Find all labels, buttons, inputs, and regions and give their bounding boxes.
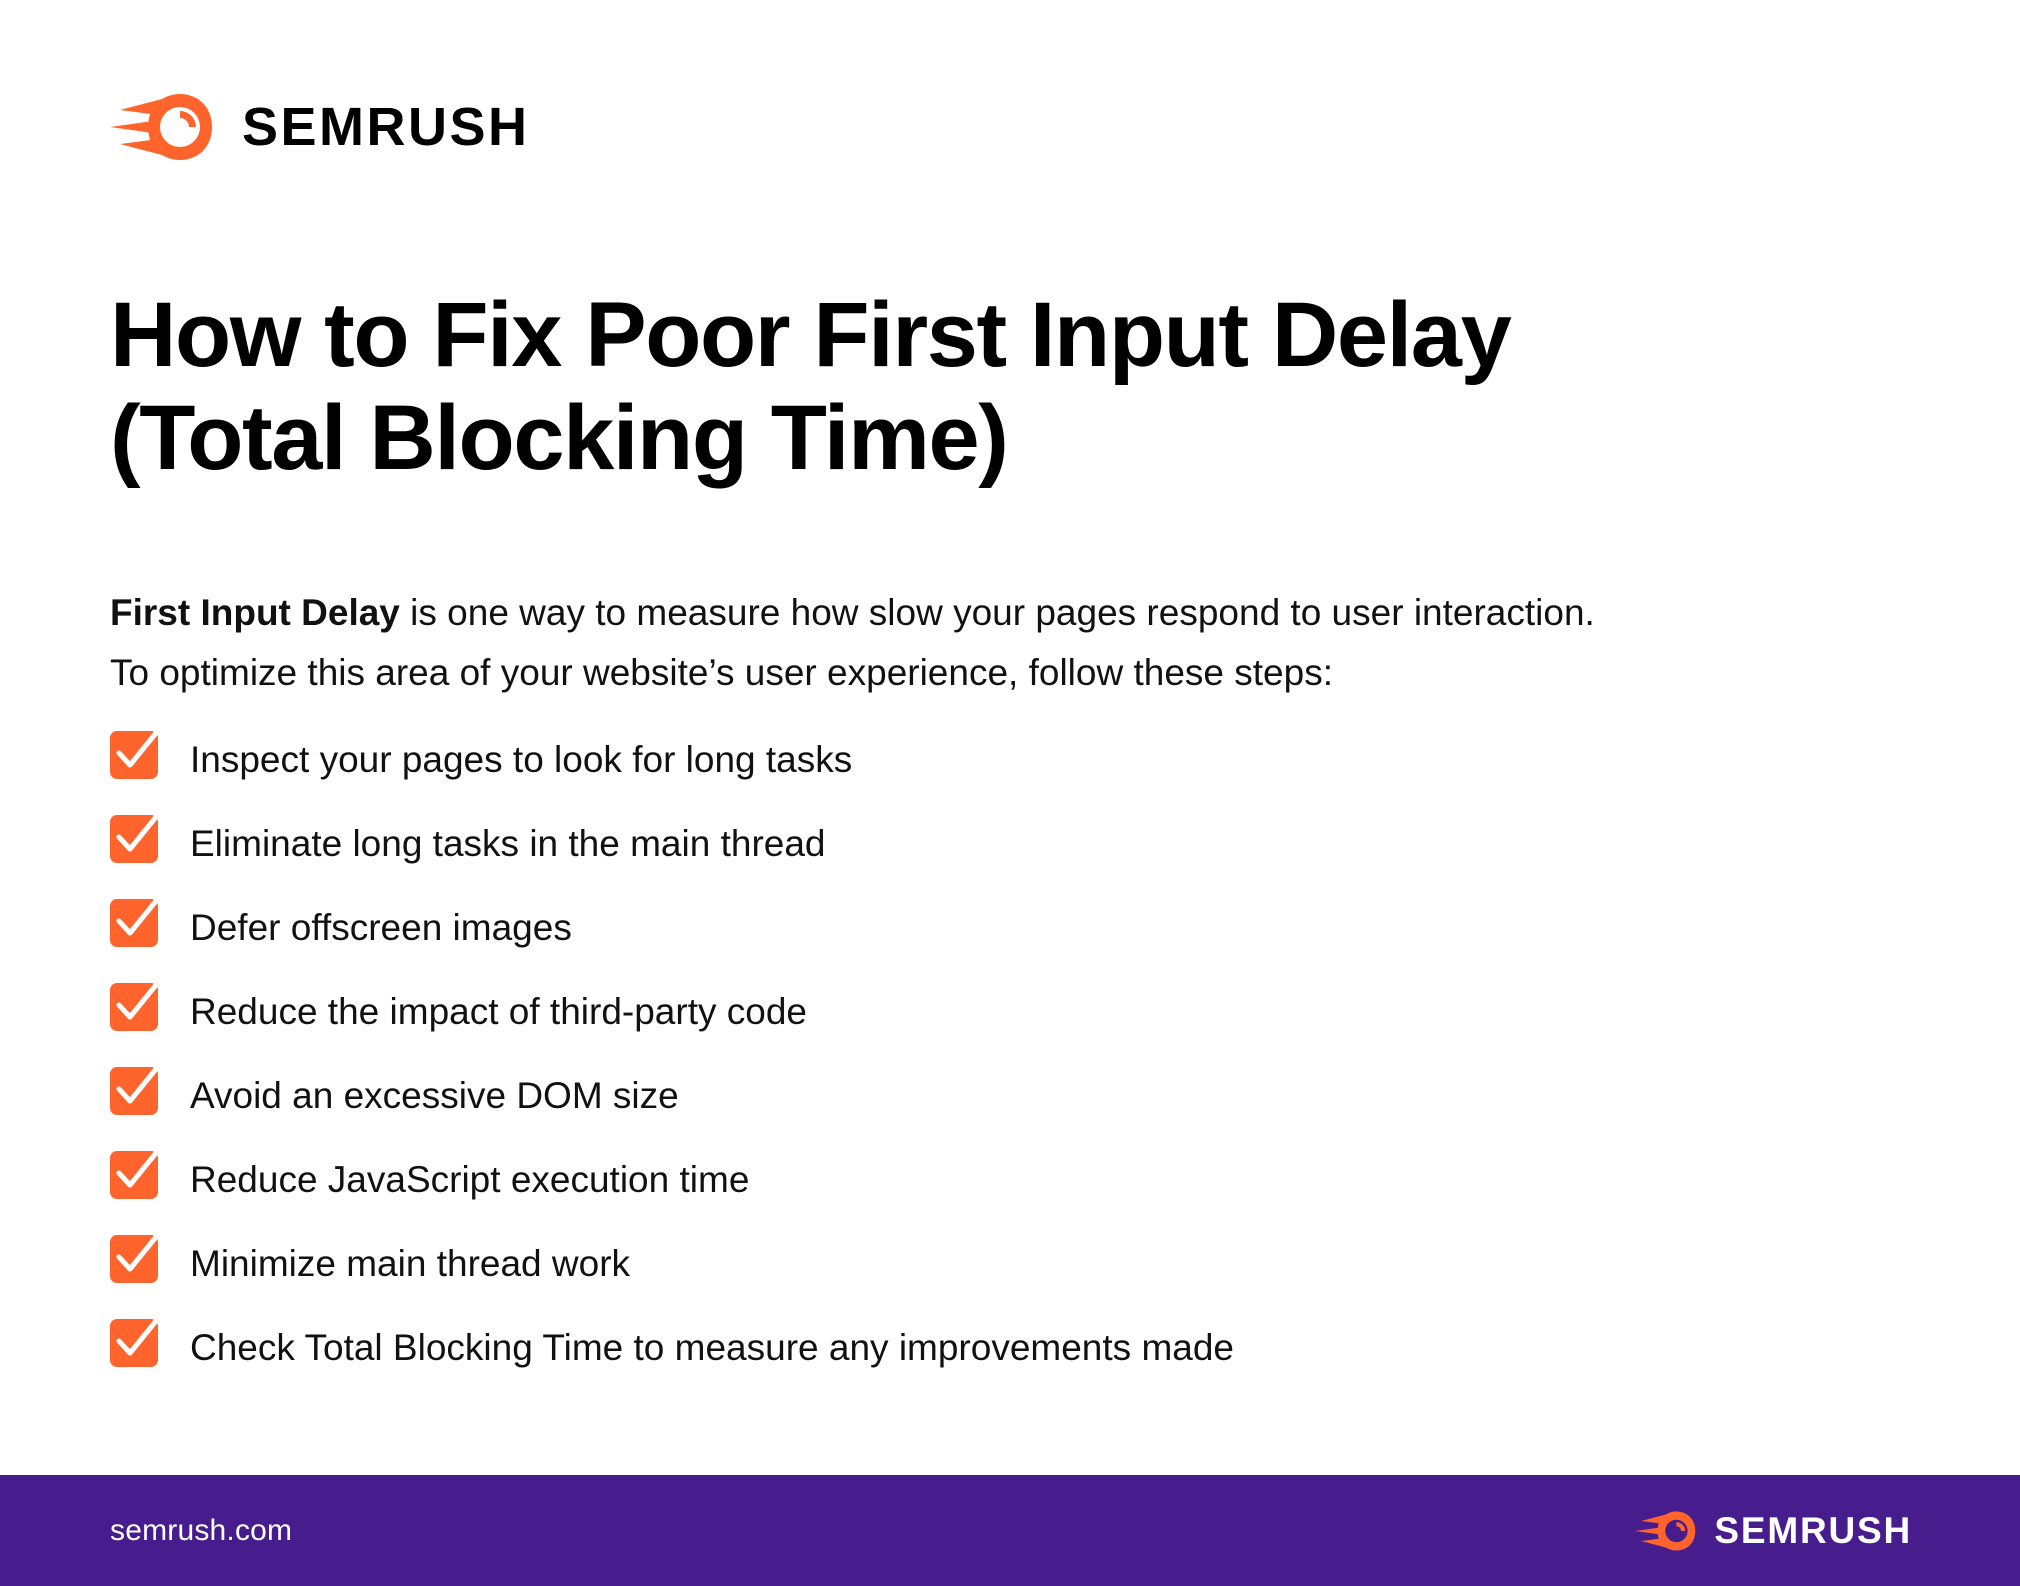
intro-rest-line-1: is one way to measure how slow your page… <box>400 592 1595 633</box>
header-logo: SEMRUSH <box>108 90 530 164</box>
checkbox-checked-icon[interactable] <box>110 899 168 957</box>
page-title: How to Fix Poor First Input Delay (Total… <box>110 284 1830 490</box>
list-item-label: Check Total Blocking Time to measure any… <box>190 1326 1234 1370</box>
list-item[interactable]: Minimize main thread work <box>110 1222 1890 1306</box>
list-item-label: Minimize main thread work <box>190 1242 630 1286</box>
semrush-comet-icon <box>108 90 220 164</box>
footer-bar: semrush.com SEMRUSH <box>0 1475 2020 1586</box>
list-item[interactable]: Inspect your pages to look for long task… <box>110 718 1890 802</box>
list-item-label: Avoid an excessive DOM size <box>190 1074 679 1118</box>
list-item-label: Reduce the impact of third-party code <box>190 990 807 1034</box>
checkbox-checked-icon[interactable] <box>110 731 168 789</box>
infographic-page: SEMRUSH How to Fix Poor First Input Dela… <box>0 0 2020 1586</box>
list-item[interactable]: Reduce JavaScript execution time <box>110 1138 1890 1222</box>
checkbox-checked-icon[interactable] <box>110 983 168 1041</box>
list-item-label: Defer offscreen images <box>190 906 572 950</box>
list-item[interactable]: Reduce the impact of third-party code <box>110 970 1890 1054</box>
list-item[interactable]: Eliminate long tasks in the main thread <box>110 802 1890 886</box>
list-item[interactable]: Check Total Blocking Time to measure any… <box>110 1306 1890 1390</box>
header-wordmark: SEMRUSH <box>242 100 530 154</box>
list-item-label: Inspect your pages to look for long task… <box>190 738 852 782</box>
checkbox-checked-icon[interactable] <box>110 1151 168 1209</box>
checkbox-checked-icon[interactable] <box>110 1235 168 1293</box>
footer-website-url[interactable]: semrush.com <box>110 1514 292 1548</box>
intro-paragraph: First Input Delay is one way to measure … <box>110 583 1870 703</box>
page-title-line-1: How to Fix Poor First Input Delay <box>110 284 1830 387</box>
page-title-line-2: (Total Blocking Time) <box>110 387 1830 490</box>
list-item-label: Eliminate long tasks in the main thread <box>190 822 826 866</box>
checkbox-checked-icon[interactable] <box>110 1319 168 1377</box>
checkbox-checked-icon[interactable] <box>110 1067 168 1125</box>
footer-wordmark: SEMRUSH <box>1714 1512 1912 1549</box>
intro-bold-lead: First Input Delay <box>110 592 400 633</box>
checklist: Inspect your pages to look for long task… <box>110 718 1890 1390</box>
list-item[interactable]: Avoid an excessive DOM size <box>110 1054 1890 1138</box>
checkbox-checked-icon[interactable] <box>110 815 168 873</box>
semrush-comet-icon <box>1634 1509 1700 1553</box>
intro-line-2: To optimize this area of your website’s … <box>110 652 1333 693</box>
footer-logo: SEMRUSH <box>1634 1509 1912 1553</box>
list-item[interactable]: Defer offscreen images <box>110 886 1890 970</box>
list-item-label: Reduce JavaScript execution time <box>190 1158 749 1202</box>
